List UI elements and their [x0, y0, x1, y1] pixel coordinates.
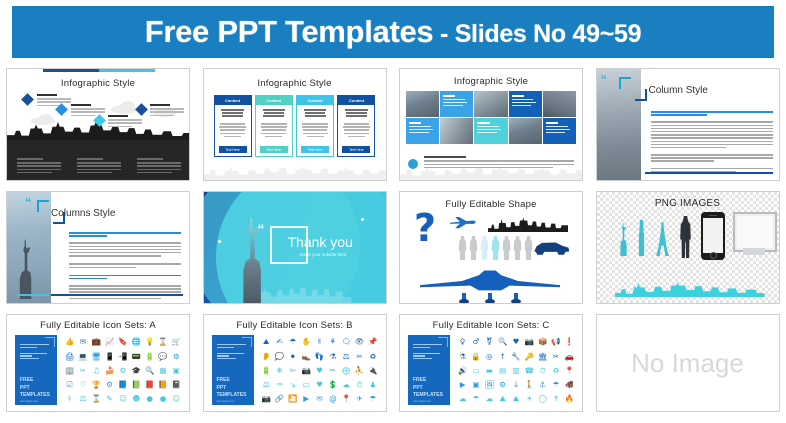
- mosaic-photo-tile: [406, 91, 439, 117]
- brand-text: FREE PPT TEMPLATES: [217, 377, 247, 399]
- mosaic-text-tile: [543, 118, 576, 144]
- brand-card: FREE PPT TEMPLATES www.allppt.com: [15, 335, 57, 405]
- no-image-text: No Image: [631, 348, 744, 379]
- speaker-icon[interactable]: 🔊: [458, 367, 467, 375]
- chart-icon[interactable]: 📈: [105, 338, 114, 346]
- bottom-text-block: [137, 158, 181, 175]
- gear-tool-icon[interactable]: ⚘: [329, 338, 336, 346]
- slide-title: Column Style: [649, 85, 708, 96]
- quote-mark-icon: “: [601, 73, 608, 86]
- mountain-icon[interactable]: ⛰: [263, 338, 269, 346]
- bottom-rule-cyan: [17, 294, 49, 296]
- brand-line-3: TEMPLATES: [20, 392, 50, 399]
- writing-hand-icon[interactable]: ✍: [276, 338, 282, 346]
- plug-icon[interactable]: 🔌: [368, 367, 377, 375]
- question-mark-icon: ?: [414, 214, 440, 248]
- megaphone-icon[interactable]: 📢: [551, 338, 560, 346]
- battery-icon[interactable]: 🔋: [261, 367, 270, 375]
- fire-icon[interactable]: 🔥: [565, 395, 574, 403]
- scissors-icon[interactable]: ✂: [80, 367, 86, 375]
- slide-cell-8: PNG IMAGES: [590, 186, 786, 309]
- mosaic-photo-tile: [474, 91, 507, 117]
- mosaic-text-tile: [509, 91, 542, 117]
- caption-text: [424, 156, 574, 170]
- telephone-icon[interactable]: ☎: [525, 367, 534, 375]
- slide-columns-style[interactable]: “ Columns Style: [6, 191, 190, 304]
- content-column[interactable]: Content Text Here: [214, 95, 252, 157]
- arrow-down-icon[interactable]: ↓: [513, 381, 519, 389]
- slide-title: PNG IMAGES: [597, 198, 779, 209]
- cog-icon[interactable]: ⚙: [106, 381, 113, 389]
- slide-icon-sets-c[interactable]: Fully Editable Icon Sets: C FREE PPT TEM…: [399, 314, 583, 412]
- cloud-shape: [121, 101, 135, 110]
- chess-pawn-icon[interactable]: ♟: [369, 381, 376, 389]
- flask-icon[interactable]: ⚗: [329, 353, 336, 361]
- mosaic-photo-tile: [543, 91, 576, 117]
- slide-cell-9: Fully Editable Icon Sets: A FREE PPT TEM…: [0, 309, 197, 417]
- play-icon[interactable]: ▶: [303, 395, 309, 403]
- video-icon[interactable]: ▣: [472, 381, 479, 389]
- slide-fully-editable-shape[interactable]: Fully Editable Shape ?: [399, 191, 583, 304]
- banner-sub-text: Slides No 49~59: [455, 20, 642, 48]
- cloud-icon[interactable]: ☁: [342, 381, 350, 389]
- arrow-up-icon[interactable]: ↑: [500, 353, 506, 361]
- pen-icon[interactable]: ✎: [107, 395, 113, 403]
- column-body: [215, 105, 251, 137]
- raised-hand-icon[interactable]: ✋: [301, 338, 310, 346]
- dollar-icon[interactable]: 💲: [328, 381, 337, 389]
- brand-card: FREE PPT TEMPLATES www.allppt.com: [408, 335, 450, 405]
- mail-icon[interactable]: ✉: [316, 395, 322, 403]
- bottom-rule-blue: [51, 294, 183, 296]
- exclamation-icon[interactable]: ❗: [565, 338, 574, 346]
- battery-low-icon[interactable]: ▬: [486, 367, 493, 375]
- slide-column-style[interactable]: “ Column Style: [596, 68, 780, 181]
- stopwatch-icon[interactable]: ⏱: [540, 367, 546, 375]
- crowd-silhouette-group: [458, 236, 533, 260]
- battery-empty-icon[interactable]: ▭: [472, 367, 479, 375]
- globe-icon[interactable]: 🌐: [132, 338, 141, 346]
- slide-cell-2: Infographic Style Content Text Here: [197, 63, 394, 186]
- snowflake-icon[interactable]: ❄: [276, 367, 282, 375]
- bank-icon[interactable]: 🏛: [538, 353, 548, 361]
- quote-mark-icon: “: [258, 222, 265, 236]
- heart-icon[interactable]: ♥: [316, 381, 323, 389]
- slide-cell-1: Infographic Style: [0, 63, 197, 186]
- icon-grid-c: ♀♂⚧🔍♥📷📦📢❗ ⚗🔒◎↑🔧🔑🏛✂🚗 🔊▭▬▤▥☎⏱♻📍 ▶▣🖼⚙↓🚶⚓☂🐗 …: [456, 335, 576, 406]
- brand-url: www.allppt.com: [413, 400, 431, 403]
- marker-text-3: [108, 115, 142, 129]
- hourglass-icon[interactable]: ⌛: [158, 338, 167, 346]
- page-banner: Free PPT Templates - Slides No 49~59: [12, 6, 774, 58]
- medical-icon[interactable]: ⚕: [68, 395, 72, 403]
- lightbulb-icon[interactable]: 💡: [145, 338, 154, 346]
- footprint-icon[interactable]: 👞: [301, 353, 310, 361]
- phone-icon[interactable]: 📱: [105, 353, 114, 361]
- lock-icon[interactable]: 🔒: [471, 353, 480, 361]
- content-columns: Content Text Here Content: [214, 95, 376, 157]
- slide-thank-you[interactable]: “ Thank you Insert your subtitle here: [203, 191, 387, 304]
- person-silhouette: [502, 236, 511, 260]
- desktop-icon[interactable]: 🖥: [92, 353, 102, 361]
- umbrella-icon[interactable]: ☂: [289, 338, 296, 346]
- at-sign-icon[interactable]: @: [329, 395, 337, 403]
- column-header: Content: [256, 96, 292, 105]
- search-icon[interactable]: 🔍: [498, 338, 507, 346]
- sun-icon[interactable]: ☀: [526, 395, 533, 403]
- no-image-container: No Image: [597, 315, 779, 411]
- mosaic-photo-tile: [509, 118, 542, 144]
- bottom-text-block: [77, 158, 121, 175]
- monitor-stand: [743, 248, 765, 255]
- person-silhouette: [469, 236, 478, 260]
- balance-icon[interactable]: ⚖: [343, 353, 350, 361]
- notebook-icon[interactable]: 📓: [172, 381, 181, 389]
- cart-icon[interactable]: 🛒: [172, 338, 181, 346]
- screenshot-page: Free PPT Templates - Slides No 49~59 Inf…: [0, 0, 786, 423]
- slide-title: Infographic Style: [400, 76, 582, 87]
- faint-skyline: [204, 165, 386, 180]
- slide-subtitle: Insert your subtitle here: [300, 252, 347, 257]
- gear-icon[interactable]: ⚙: [499, 381, 506, 389]
- mosaic-text-tile: [474, 118, 507, 144]
- top-accent-bar: [43, 69, 155, 72]
- slide-title: Infographic Style: [7, 78, 189, 89]
- phone-speaker: [709, 215, 717, 217]
- slide-infographic-style-columns[interactable]: Infographic Style Content Text Here: [203, 68, 387, 181]
- flask-icon[interactable]: ⚗: [459, 353, 466, 361]
- column-button[interactable]: Text Here: [219, 146, 247, 153]
- rectangle-icon[interactable]: ▭: [303, 381, 310, 389]
- decorative-dot: [361, 218, 364, 221]
- slide-cell-4: “ Column Style: [590, 63, 786, 186]
- bookmark-icon[interactable]: 🔖: [118, 338, 127, 346]
- card-placeholder-lines: [217, 344, 248, 361]
- brand-line-2: PPT: [413, 385, 443, 392]
- book-red-icon[interactable]: 📕: [145, 381, 154, 389]
- column-body: [297, 105, 333, 137]
- walking-icon[interactable]: 🚶: [525, 381, 534, 389]
- speech-bubble-icon[interactable]: 🗨: [341, 338, 351, 346]
- play-circle-icon[interactable]: ▶: [460, 381, 466, 389]
- music-note-icon[interactable]: ♫: [93, 367, 100, 375]
- card-placeholder-lines: [20, 344, 51, 361]
- landing-gear-icon: [488, 293, 492, 301]
- key-icon[interactable]: 🔑: [525, 353, 534, 361]
- urn-icon[interactable]: ⚰: [276, 381, 282, 389]
- brand-text: FREE PPT TEMPLATES: [20, 377, 50, 399]
- circle-icon[interactable]: ●: [160, 395, 167, 403]
- column-header: Content: [297, 96, 333, 105]
- title-bracket-decoration: [619, 77, 647, 101]
- column-body: [338, 105, 374, 137]
- brand-text: FREE PPT TEMPLATES: [413, 377, 443, 399]
- person-silhouette: [513, 236, 522, 260]
- slide-icon-sets-b[interactable]: Fully Editable Icon Sets: B FREE PPT TEM…: [203, 314, 387, 412]
- checkbox-icon[interactable]: ☑: [66, 381, 73, 389]
- box-icon[interactable]: 📦: [538, 338, 547, 346]
- cloud-icon[interactable]: ☁: [459, 395, 467, 403]
- column-body: [256, 105, 292, 137]
- slide-png-images[interactable]: PNG IMAGES: [596, 191, 780, 304]
- smartphone-mockup: [701, 212, 725, 260]
- gender-icon[interactable]: ⚧: [486, 338, 492, 346]
- book-green-icon[interactable]: 📗: [132, 381, 141, 389]
- column-button[interactable]: Text Here: [260, 146, 288, 153]
- book-blue-icon[interactable]: 📘: [118, 381, 127, 389]
- image-icon[interactable]: 🖼: [485, 381, 495, 389]
- feet-icon[interactable]: 👣: [315, 353, 324, 361]
- trophy-icon[interactable]: 🏆: [92, 381, 101, 389]
- battery-icon[interactable]: 🔋: [145, 353, 154, 361]
- slide-row-1: Infographic Style: [0, 63, 786, 186]
- settings-icon[interactable]: ⚙: [120, 367, 127, 375]
- caption-badge-icon: [408, 159, 418, 169]
- graduation-cap-icon[interactable]: 🎓: [132, 367, 141, 375]
- slide-title: Fully Editable Icon Sets: A: [7, 320, 189, 331]
- banner-separator: -: [433, 20, 454, 48]
- location-pin-icon[interactable]: 📍: [565, 367, 574, 375]
- smiley-icon[interactable]: ☺: [172, 395, 180, 403]
- anchor-icon[interactable]: ⚓: [539, 381, 546, 389]
- marker-diamond-icon: [21, 93, 34, 106]
- slide-no-image-placeholder[interactable]: No Image: [596, 314, 780, 412]
- smiley-filled-icon[interactable]: ☻: [132, 395, 140, 403]
- slide-icon-sets-a[interactable]: Fully Editable Icon Sets: A FREE PPT TEM…: [6, 314, 190, 412]
- boar-icon[interactable]: 🐗: [565, 381, 574, 389]
- brand-card: FREE PPT TEMPLATES www.allppt.com: [212, 335, 254, 405]
- slide-title: Columns Style: [51, 208, 115, 219]
- pencil-icon[interactable]: ✏: [330, 367, 336, 375]
- slide-infographic-style-skyline[interactable]: Infographic Style: [6, 68, 190, 181]
- content-column[interactable]: Content Text Here: [296, 95, 334, 157]
- monitor-mockup: [733, 212, 777, 252]
- briefcase-icon[interactable]: 💼: [92, 338, 101, 346]
- arrow-down-right-icon[interactable]: ↘: [290, 381, 296, 389]
- camera-icon[interactable]: 📷: [261, 395, 270, 403]
- rain-cloud-icon[interactable]: ☂: [473, 395, 480, 403]
- decorative-dot: [218, 240, 221, 243]
- person-silhouette: [458, 236, 467, 260]
- book-orange-icon[interactable]: 📙: [158, 381, 167, 389]
- content-column[interactable]: Content Text Here: [337, 95, 375, 157]
- pager-icon[interactable]: 📟: [132, 353, 141, 361]
- search-icon[interactable]: 🔍: [145, 367, 154, 375]
- slide-cell-10: Fully Editable Icon Sets: B FREE PPT TEM…: [197, 309, 394, 417]
- scales-icon[interactable]: ⚖: [263, 381, 270, 389]
- gear-icon[interactable]: ⚙: [173, 353, 180, 361]
- building-icon[interactable]: 🏢: [65, 367, 74, 375]
- ear-icon[interactable]: 👂: [261, 353, 270, 361]
- circle-filled-icon[interactable]: ⚫: [290, 353, 296, 361]
- timer-icon[interactable]: ⌛: [92, 395, 101, 403]
- link-icon[interactable]: 🔗: [275, 395, 284, 403]
- slide-row-3: Fully Editable Icon Sets: A FREE PPT TEM…: [0, 309, 786, 417]
- camera-icon[interactable]: 📷: [525, 338, 534, 346]
- phone-home-button: [710, 252, 717, 259]
- printer-icon[interactable]: 🖨: [65, 353, 75, 361]
- banner-main-text: Free PPT Templates: [145, 14, 434, 49]
- brand-line-1: FREE: [217, 377, 247, 384]
- grid-icon[interactable]: ▦: [159, 367, 166, 375]
- mountain-icon[interactable]: ⛰: [513, 395, 519, 403]
- scissors-icon[interactable]: ✂: [356, 353, 362, 361]
- cloud-icon[interactable]: ☁: [486, 395, 494, 403]
- slide-cell-7: Fully Editable Shape ?: [393, 186, 590, 309]
- phone-screen: [703, 218, 723, 253]
- scales-icon[interactable]: ⚖: [80, 395, 87, 403]
- icon-grid-a: 👍✉💼📈🔖🌐💡⌛🛒 🖨💻🖥📱📲📟🔋💬⚙ 🏢✂♫🍰⚙🎓🔍▦▣ ☑♡🏆⚙📘📗📕📙📓 …: [63, 335, 183, 406]
- smiley-icon[interactable]: ☺: [119, 395, 127, 403]
- bottom-rule: [645, 172, 773, 174]
- umbrella-icon[interactable]: ☂: [369, 395, 376, 403]
- card-placeholder-lines: [413, 344, 444, 361]
- mountain-icon[interactable]: ⛰: [500, 395, 506, 403]
- column-button[interactable]: Text Here: [342, 146, 370, 153]
- slide-cell-12: No Image: [590, 309, 786, 417]
- slide-title: Thank you: [288, 234, 353, 250]
- thought-bubble-icon[interactable]: 💭: [275, 353, 284, 361]
- camera-icon[interactable]: 📷: [301, 367, 310, 375]
- slide-title: Infographic Style: [204, 78, 386, 89]
- bottom-text-block: [17, 158, 61, 175]
- marker-text-1: [37, 94, 71, 108]
- slide-row-2: “ Columns Style: [0, 186, 786, 309]
- airplane-icon[interactable]: ✈: [356, 395, 362, 403]
- person-silhouette: [480, 236, 489, 260]
- column-header: Content: [215, 96, 251, 105]
- female-icon[interactable]: ♀: [460, 338, 466, 346]
- square-icon[interactable]: ▣: [173, 367, 180, 375]
- brand-url: www.allppt.com: [217, 400, 235, 403]
- wrench-icon[interactable]: 🔧: [511, 353, 520, 361]
- body-copy: [651, 111, 773, 174]
- photo-mosaic: [406, 91, 576, 144]
- brand-line-3: TEMPLATES: [217, 392, 247, 399]
- recycle-icon[interactable]: ♻: [369, 353, 376, 361]
- brand-line-3: TEMPLATES: [413, 392, 443, 399]
- cake-icon[interactable]: 🍰: [105, 367, 114, 375]
- battery-full-icon[interactable]: ▥: [512, 367, 519, 375]
- scissors-icon[interactable]: ✂: [553, 353, 559, 361]
- slide-title: Fully Editable Icon Sets: C: [400, 320, 582, 331]
- chat-bubble-icon[interactable]: 💬: [158, 353, 167, 361]
- battery-mid-icon[interactable]: ▤: [499, 367, 506, 375]
- plus-circle-icon[interactable]: ⨁: [342, 367, 350, 375]
- car-icon: [532, 240, 570, 256]
- cutter-icon[interactable]: ✄: [290, 367, 296, 375]
- column-header: Content: [338, 96, 374, 105]
- mosaic-text-tile: [406, 118, 439, 144]
- person-silhouette-highlight: [491, 236, 500, 260]
- slide-title: Fully Editable Icon Sets: B: [204, 320, 386, 331]
- heart-icon[interactable]: ♥: [513, 338, 520, 346]
- quote-mark-icon: “: [25, 196, 32, 209]
- brand-line-2: PPT: [20, 385, 50, 392]
- slides-grid: Infographic Style: [0, 63, 786, 417]
- brand-line-1: FREE: [20, 377, 50, 384]
- airplane-front-icon: [420, 269, 560, 295]
- brand-url: www.allppt.com: [20, 400, 38, 403]
- stopwatch-icon[interactable]: ⏱: [357, 381, 363, 389]
- eye-icon[interactable]: 👁: [355, 338, 365, 346]
- marker-diamond-icon: [135, 103, 148, 116]
- slide-cell-6: “ Thank you Insert your subtitle here: [197, 186, 394, 309]
- target-icon[interactable]: ◎: [486, 353, 493, 361]
- location-pin-icon[interactable]: 📍: [341, 395, 350, 403]
- mobile-icon[interactable]: 📲: [118, 353, 127, 361]
- car-icon[interactable]: 🚗: [565, 353, 574, 361]
- slide-infographic-style-mosaic[interactable]: Infographic Style: [399, 68, 583, 181]
- landing-gear-icon: [514, 293, 518, 301]
- icon-grid-b: ⛰✍☂✋✌⚘🗨👁📌 👂💭⚫👞👣⚗⚖✂♻ 🔋❄✄📷♥✏⨁⛹🔌 ⚖⚰↘▭♥💲☁⏱♟ …: [260, 335, 380, 406]
- laptop-icon[interactable]: 💻: [78, 353, 87, 361]
- circle-outline-icon[interactable]: ◯: [538, 395, 546, 403]
- marker-text-4: [150, 104, 184, 118]
- victory-hand-icon[interactable]: ✌: [316, 338, 322, 346]
- recycle-icon[interactable]: ♻: [553, 367, 560, 375]
- column-button[interactable]: Text Here: [301, 146, 329, 153]
- projector-icon[interactable]: 🎦: [288, 395, 297, 403]
- slide-cell-5: “ Columns Style: [0, 186, 197, 309]
- mosaic-photo-tile: [440, 118, 473, 144]
- airplane-side-icon: [450, 216, 476, 230]
- heart-outline-icon[interactable]: ♡: [80, 381, 87, 389]
- city-skyline-silhouette: [488, 216, 568, 232]
- heart-icon[interactable]: ♥: [316, 367, 323, 375]
- person-silhouette: [524, 236, 533, 260]
- brand-line-2: PPT: [217, 385, 247, 392]
- envelope-icon[interactable]: ✉: [80, 338, 86, 346]
- brand-line-1: FREE: [413, 377, 443, 384]
- umbrella-icon[interactable]: ☂: [553, 381, 560, 389]
- banner-title: Free PPT Templates - Slides No 49~59: [145, 14, 642, 50]
- pin-icon[interactable]: 📌: [368, 338, 377, 346]
- slide-cell-3: Infographic Style: [393, 63, 590, 186]
- mosaic-text-tile: [440, 91, 473, 117]
- landing-gear-icon: [462, 293, 466, 301]
- cloud-shape: [39, 114, 52, 122]
- slide-cell-11: Fully Editable Icon Sets: C FREE PPT TEM…: [393, 309, 590, 417]
- content-column[interactable]: Content Text Here: [255, 95, 293, 157]
- radiation-icon[interactable]: ☨: [554, 395, 558, 403]
- circle-icon[interactable]: ●: [146, 395, 153, 403]
- sports-icon[interactable]: ⛹: [355, 367, 364, 375]
- monitor-screen: [737, 216, 773, 248]
- male-icon[interactable]: ♂: [473, 338, 480, 346]
- thumbs-up-icon[interactable]: 👍: [65, 338, 74, 346]
